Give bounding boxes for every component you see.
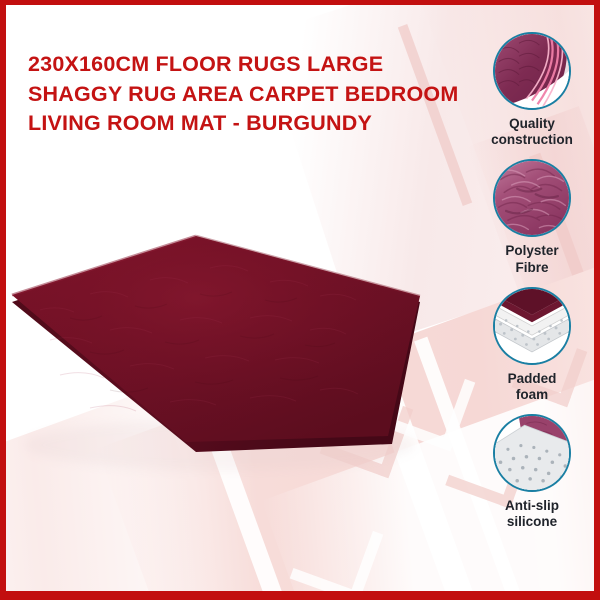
- silicone-dots-backing-icon: [493, 414, 571, 492]
- frame-border-left: [0, 0, 6, 600]
- feature-label-line: Quality: [509, 116, 555, 131]
- feature-item-padded-foam: Padded foam: [472, 287, 592, 403]
- feature-list: Quality construction: [472, 32, 592, 542]
- rug-illustration: [0, 190, 470, 490]
- feature-label-line: foam: [516, 387, 548, 402]
- feature-label-line: Anti-slip: [505, 498, 559, 513]
- feature-label: Polyster Fibre: [472, 243, 592, 275]
- feature-label-line: Fibre: [515, 260, 548, 275]
- layered-foam-icon: [493, 287, 571, 365]
- rug-weave-closeup-icon: [493, 32, 571, 110]
- feature-item-polyster-fibre: Polyster Fibre: [472, 159, 592, 275]
- feature-label-line: Padded: [508, 371, 557, 386]
- frame-border-bottom: [0, 591, 600, 600]
- fibre-texture-icon: [493, 159, 571, 237]
- feature-label-line: silicone: [507, 514, 557, 529]
- feature-label-line: construction: [491, 132, 573, 147]
- frame-border-top: [0, 0, 600, 5]
- feature-label-line: Polyster: [505, 243, 558, 258]
- feature-label: Padded foam: [472, 371, 592, 403]
- product-hero-image: [0, 190, 470, 490]
- feature-item-quality-construction: Quality construction: [472, 32, 592, 148]
- feature-item-anti-slip-silicone: Anti-slip silicone: [472, 414, 592, 530]
- page-title: 230x160cm Floor Rugs Large Shaggy Rug Ar…: [28, 50, 468, 138]
- product-banner: 230x160cm Floor Rugs Large Shaggy Rug Ar…: [0, 0, 600, 600]
- frame-border-right: [594, 0, 600, 600]
- feature-label: Anti-slip silicone: [472, 498, 592, 530]
- feature-label: Quality construction: [472, 116, 592, 148]
